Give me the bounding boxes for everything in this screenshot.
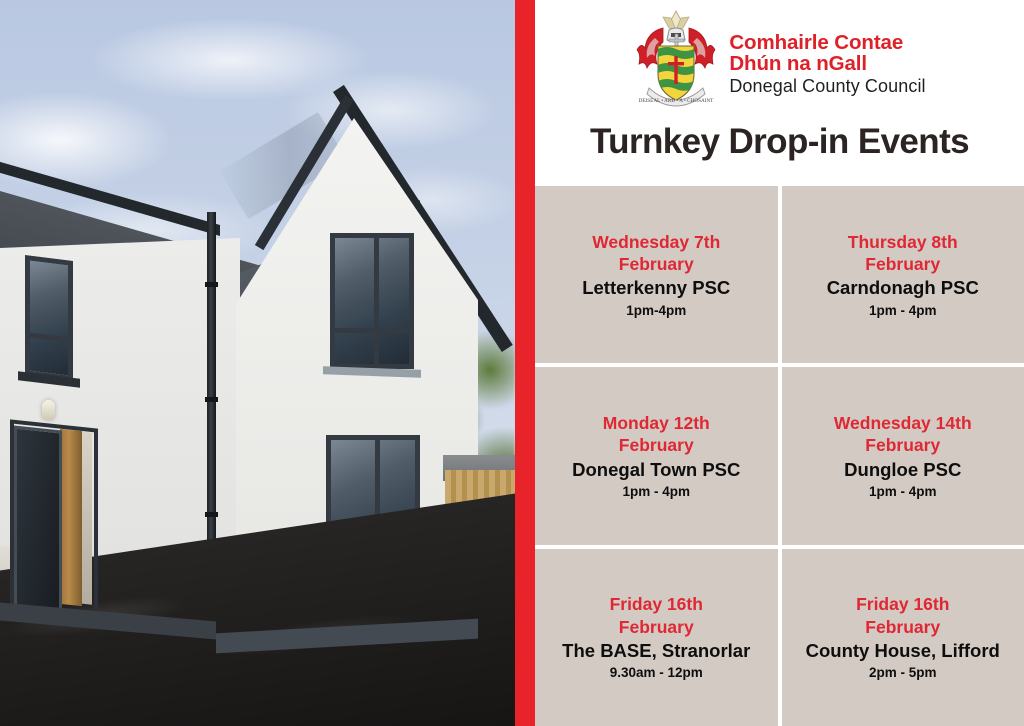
event-time: 9.30am - 12pm — [610, 665, 703, 681]
event-date: Friday 16th February — [818, 593, 988, 638]
door-frame-icon — [10, 419, 98, 622]
event-card[interactable]: Thursday 8th February Carndonagh PSC 1pm… — [782, 186, 1024, 363]
brand-text-block: Comhairle Contae Dhún na nGall Donegal C… — [729, 29, 925, 95]
event-date: Monday 12th February — [571, 412, 741, 457]
event-card[interactable]: Wednesday 14th February Dungloe PSC 1pm … — [782, 367, 1024, 544]
svg-text:DEISEAL • ARD • A • CHOSAINT: DEISEAL • ARD • A • CHOSAINT — [639, 98, 715, 104]
window-icon — [330, 233, 414, 369]
event-venue: Letterkenny PSC — [582, 277, 730, 299]
brand-english-line: Donegal County Council — [729, 75, 925, 95]
event-date: Wednesday 7th February — [571, 231, 741, 276]
event-card[interactable]: Wednesday 7th February Letterkenny PSC 1… — [535, 186, 778, 363]
event-time: 1pm - 4pm — [622, 484, 690, 500]
event-date: Wednesday 14th February — [818, 412, 988, 457]
event-venue: Donegal Town PSC — [572, 459, 740, 481]
event-date: Thursday 8th February — [818, 231, 988, 276]
event-date: Friday 16th February — [571, 593, 741, 638]
event-time: 1pm-4pm — [626, 303, 686, 319]
event-venue: Carndonagh PSC — [827, 277, 979, 299]
event-venue: The BASE, Stranorlar — [562, 640, 750, 662]
event-time: 2pm - 5pm — [869, 665, 937, 681]
event-time: 1pm - 4pm — [869, 484, 937, 500]
event-venue: County House, Lifford — [806, 640, 1000, 662]
brand-lockup: DEISEAL • ARD • A • CHOSAINT Comhairle C… — [535, 0, 1024, 116]
event-card[interactable]: Friday 16th February County House, Liffo… — [782, 549, 1024, 726]
event-venue: Dungloe PSC — [844, 459, 961, 481]
window-icon — [25, 255, 73, 381]
brand-irish-line-2: Dhún na nGall — [729, 54, 925, 75]
brand-irish-line-1: Comhairle Contae — [729, 33, 925, 54]
event-time: 1pm - 4pm — [869, 303, 937, 319]
page-title: Turnkey Drop-in Events — [535, 122, 1024, 162]
poster-root: DEISEAL • ARD • A • CHOSAINT Comhairle C… — [0, 0, 1024, 726]
event-card[interactable]: Monday 12th February Donegal Town PSC 1p… — [535, 367, 778, 544]
poster-header: DEISEAL • ARD • A • CHOSAINT Comhairle C… — [535, 0, 1024, 186]
events-grid: Wednesday 7th February Letterkenny PSC 1… — [535, 186, 1024, 726]
wall-light-icon — [42, 400, 55, 420]
content-panel: DEISEAL • ARD • A • CHOSAINT Comhairle C… — [535, 0, 1024, 726]
house-photo — [0, 0, 515, 726]
event-card[interactable]: Friday 16th February The BASE, Stranorla… — [535, 549, 778, 726]
donegal-coat-of-arms-icon: DEISEAL • ARD • A • CHOSAINT — [633, 8, 719, 116]
red-divider-bar — [515, 0, 535, 726]
